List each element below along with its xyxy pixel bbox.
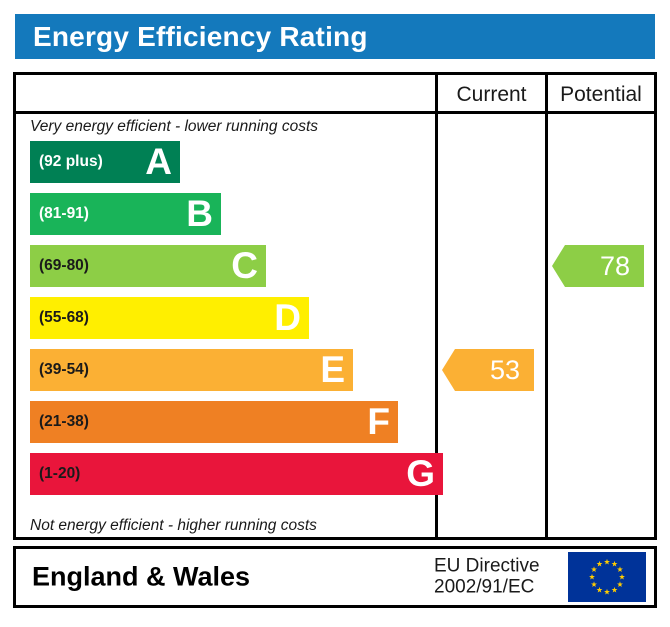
rating-value-current: 53 (490, 357, 520, 384)
band-bar-b: (81-91)B (30, 193, 221, 235)
band-bar-g: (1-20)G (30, 453, 443, 495)
rating-arrow-current: 53 (442, 349, 534, 391)
band-letter-f: F (367, 403, 390, 440)
band-range-d: (55-68) (39, 309, 89, 327)
body-column-divider-2 (545, 114, 548, 540)
band-letter-g: G (406, 455, 435, 492)
footer-directive-line2: 2002/91/EC (434, 577, 540, 598)
band-range-a: (92 plus) (39, 153, 103, 171)
footer-region-label: England & Wales (32, 562, 250, 593)
table-body: Very energy efficient - lower running co… (16, 114, 654, 540)
band-range-f: (21-38) (39, 413, 89, 431)
band-letter-e: E (320, 351, 345, 388)
chart-footer: England & Wales EU Directive 2002/91/EC (13, 546, 657, 608)
band-bar-a: (92 plus)A (30, 141, 180, 183)
footer-directive-label: EU Directive 2002/91/EC (434, 556, 540, 599)
band-bar-f: (21-38)F (30, 401, 398, 443)
energy-rating-chart: Current Potential Very energy efficient … (13, 72, 657, 540)
band-range-e: (39-54) (39, 361, 89, 379)
band-letter-b: B (186, 195, 213, 232)
rating-value-potential: 78 (600, 253, 630, 280)
band-bar-e: (39-54)E (30, 349, 353, 391)
column-header-current: Current (438, 75, 545, 114)
chart-banner: Energy Efficiency Rating (15, 14, 655, 59)
rating-arrow-potential: 78 (552, 245, 644, 287)
band-bar-d: (55-68)D (30, 297, 309, 339)
band-letter-a: A (145, 143, 172, 180)
eu-flag-icon (568, 552, 646, 602)
band-letter-d: D (274, 299, 301, 336)
band-letter-c: C (231, 247, 258, 284)
column-header-potential: Potential (548, 75, 654, 114)
table-header-row: Current Potential (16, 75, 654, 114)
band-range-b: (81-91) (39, 205, 89, 223)
band-bars-group: (92 plus)A(81-91)B(69-80)C(55-68)D(39-54… (16, 114, 435, 540)
band-range-g: (1-20) (39, 465, 80, 483)
band-range-c: (69-80) (39, 257, 89, 275)
band-bar-c: (69-80)C (30, 245, 266, 287)
footer-directive-line1: EU Directive (434, 556, 540, 577)
page-title: Energy Efficiency Rating (33, 21, 368, 53)
